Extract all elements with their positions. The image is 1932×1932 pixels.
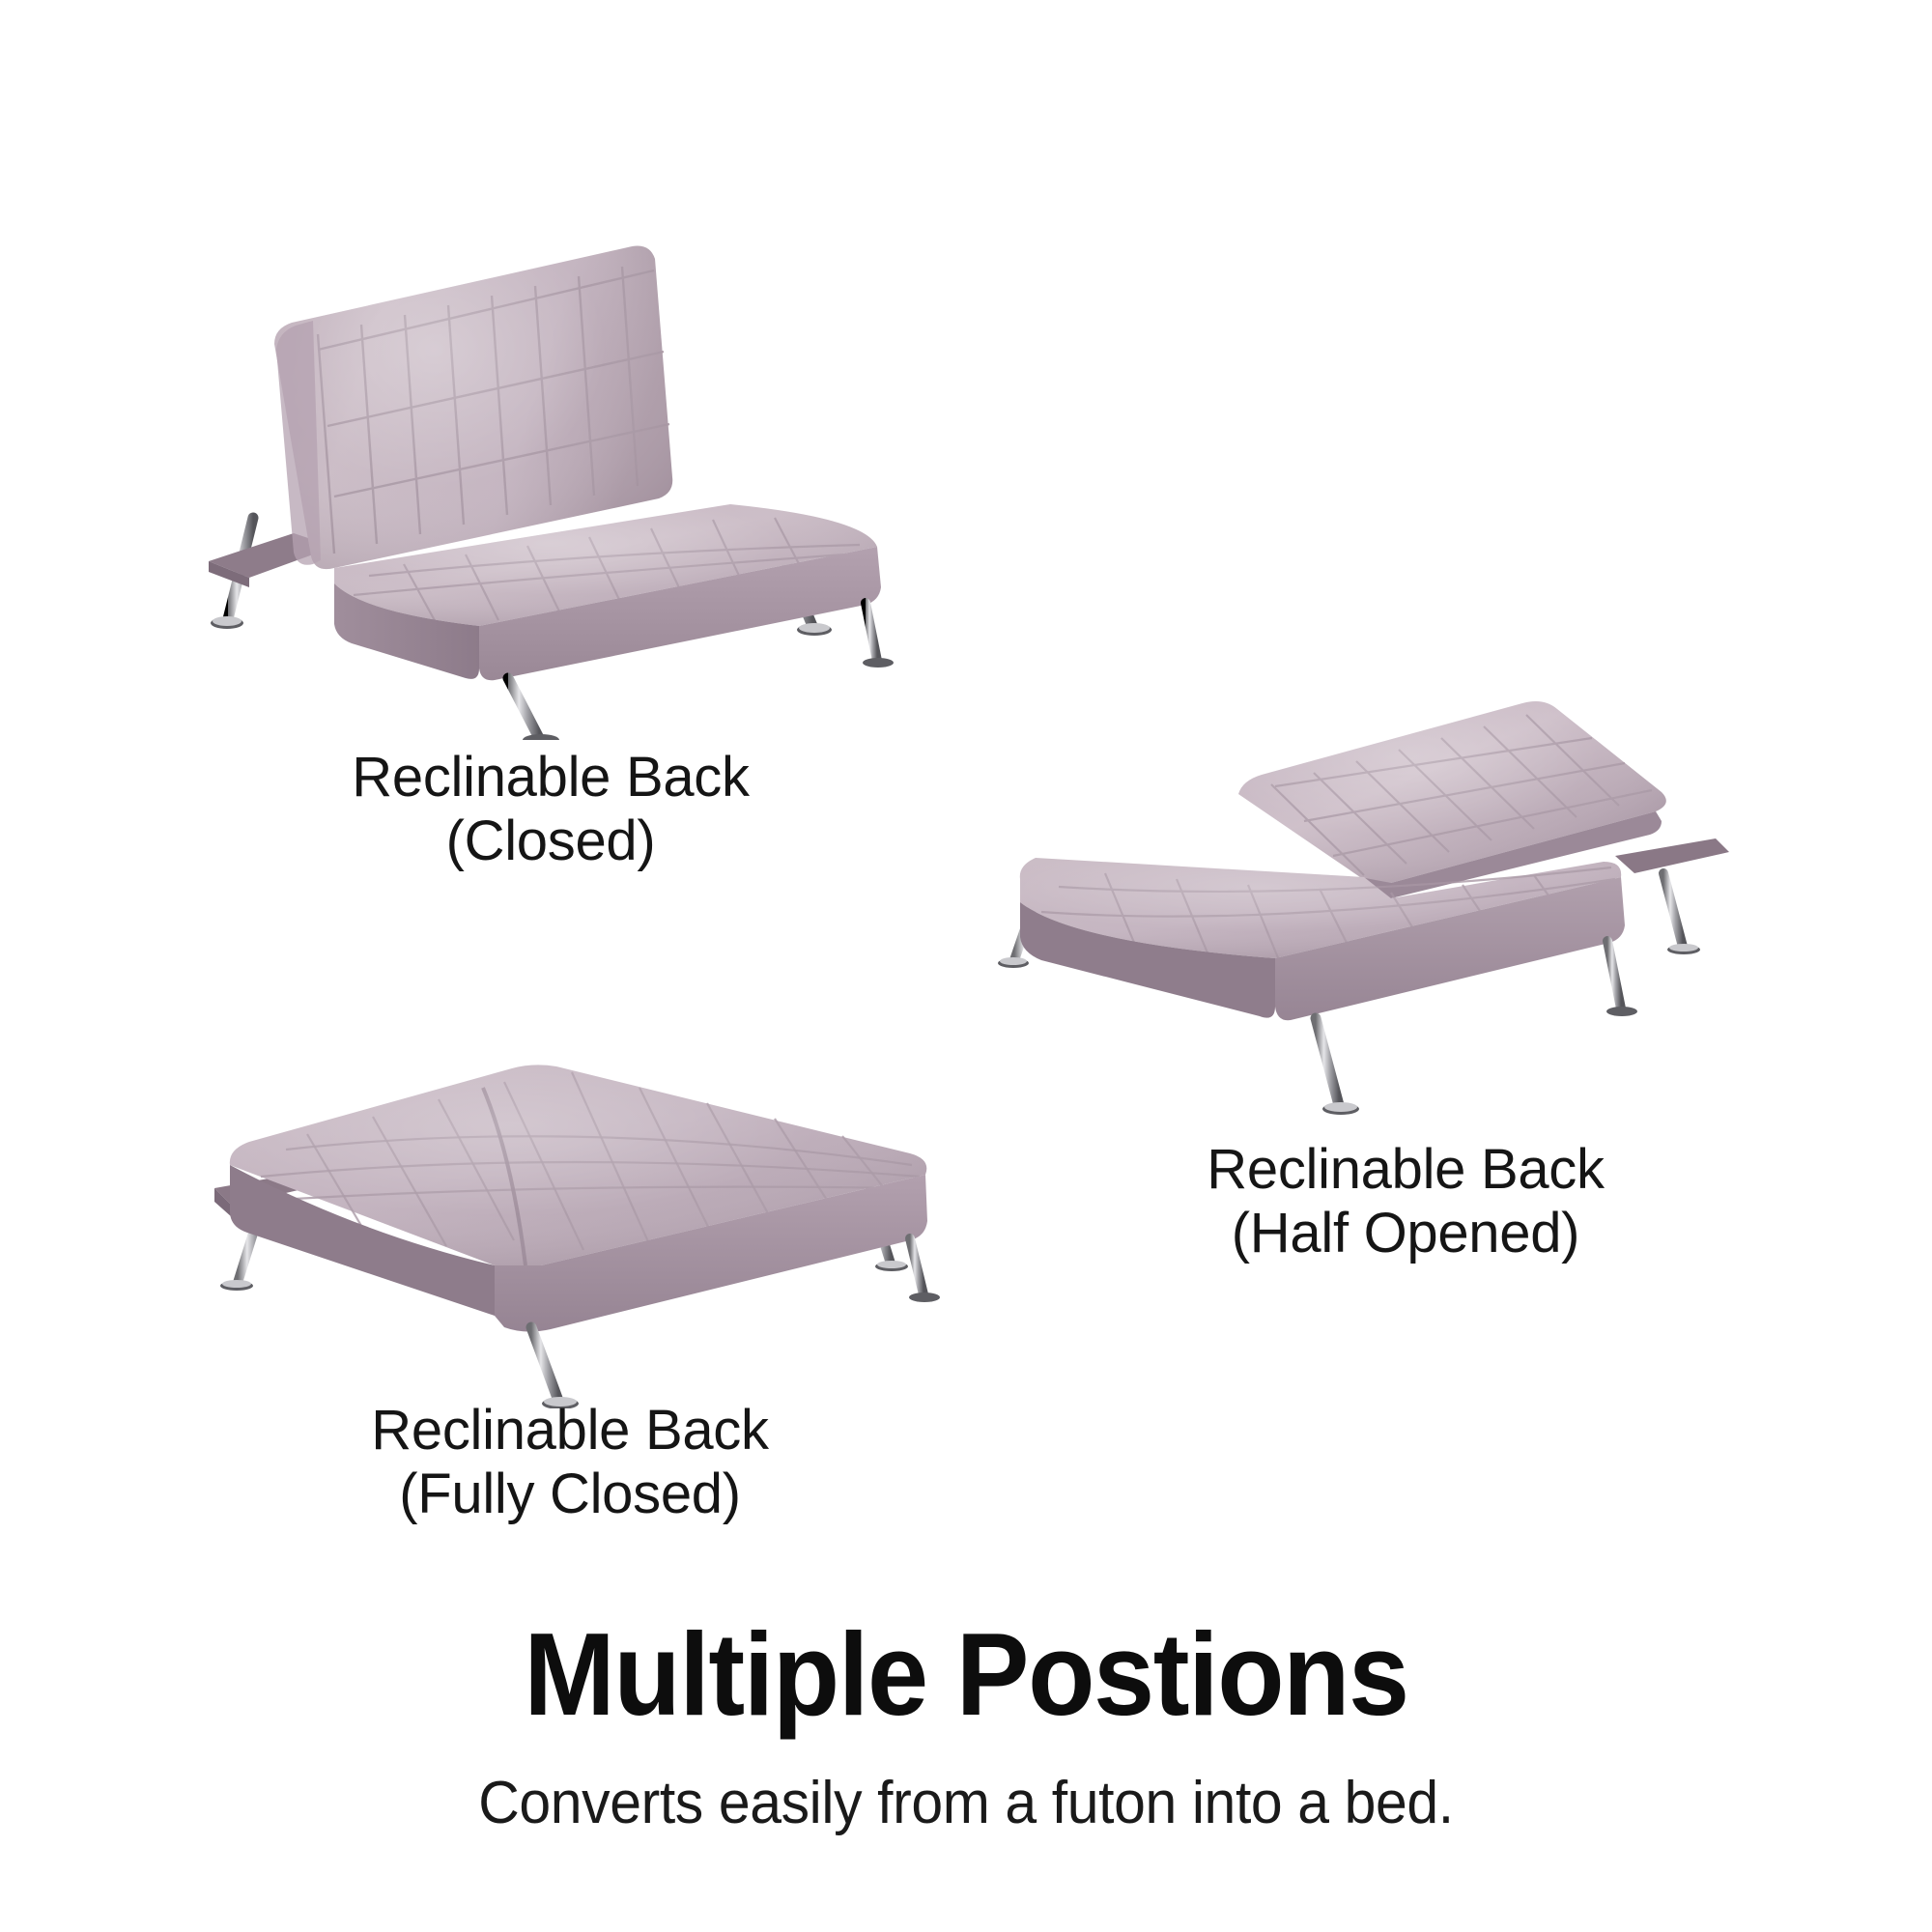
chrome-leg [1663, 873, 1700, 954]
futon-seat [1020, 858, 1625, 1020]
caption-half-line1: Reclinable Back [1207, 1138, 1604, 1201]
chrome-leg [531, 1327, 579, 1408]
subheadline: Converts easily from a futon into a bed. [48, 1774, 1884, 1833]
headline: Multiple Postions [68, 1615, 1864, 1733]
chrome-leg [1606, 941, 1637, 1016]
chrome-leg [508, 678, 559, 740]
caption-flat-line2: (Fully Closed) [0, 1463, 1140, 1526]
caption-closed-line1: Reclinable Back [352, 746, 749, 809]
caption-half-opened: Reclinable Back (Half Opened) [879, 1138, 1932, 1265]
futon-half-reclined-position [985, 649, 1739, 1132]
caption-fully-closed: Reclinable Back (Fully Closed) [0, 1399, 1140, 1526]
futon-upright-position [189, 228, 904, 740]
futon-flat-bed-position [193, 1041, 956, 1408]
caption-closed: Reclinable Back (Closed) [0, 746, 1101, 873]
infographic-canvas: Reclinable Back (Closed) Reclinable Back… [0, 0, 1932, 1932]
caption-half-line2: (Half Opened) [879, 1202, 1932, 1265]
chrome-leg [1316, 1018, 1359, 1115]
chrome-leg [863, 603, 894, 668]
caption-flat-line1: Reclinable Back [371, 1399, 768, 1462]
caption-closed-line2: (Closed) [0, 810, 1101, 873]
futon-backrest [274, 246, 672, 570]
